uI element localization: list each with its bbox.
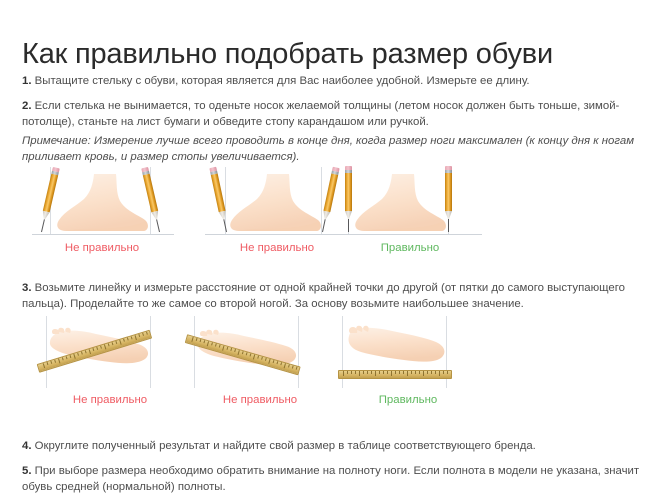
foot-side-illustration bbox=[54, 173, 150, 235]
pencil-body bbox=[345, 173, 352, 211]
pencil-cone bbox=[219, 211, 228, 220]
figure-ruler-wrong-2: Не правильно bbox=[180, 312, 340, 390]
step-5-number: 5. bbox=[22, 465, 32, 477]
foot-side-illustration bbox=[227, 173, 323, 235]
illustration-row-pencil: Не правильно bbox=[0, 163, 670, 261]
step-1-paragraph: 1. Вытащите стельку с обуви, которая явл… bbox=[22, 74, 656, 90]
pencil-lead bbox=[322, 219, 326, 232]
foot-top-illustration bbox=[342, 324, 448, 364]
step-3-paragraph: 3. Возьмите линейку и измерьте расстояни… bbox=[22, 281, 656, 312]
foot-side-illustration bbox=[352, 173, 448, 235]
pencil-lead bbox=[448, 219, 450, 232]
ruler-icon bbox=[338, 370, 452, 379]
page-title: Как правильно подобрать размер обуви bbox=[22, 37, 553, 71]
step-3-number: 3. bbox=[22, 282, 32, 294]
figure-pencil-wrong-1: Не правильно bbox=[22, 163, 182, 238]
ruler-stick bbox=[338, 370, 452, 379]
step-2-paragraph: 2. Если стелька не вынимается, то оденьт… bbox=[22, 99, 656, 130]
pencil-lead bbox=[156, 219, 160, 232]
figure-caption: Не правильно bbox=[180, 394, 340, 406]
pencil-icon-right bbox=[445, 166, 452, 232]
pencil-lead bbox=[223, 219, 227, 232]
pencil-lead bbox=[348, 219, 350, 232]
step-1-number: 1. bbox=[22, 75, 32, 87]
step-1-text: Вытащите стельку с обуви, которая являет… bbox=[32, 75, 530, 87]
step-4-paragraph: 4. Округлите полученный результат и найд… bbox=[22, 439, 656, 455]
step-3-text: Возьмите линейку и измерьте расстояние о… bbox=[22, 282, 625, 310]
pencil-body bbox=[211, 174, 226, 213]
figure-caption: Правильно bbox=[328, 394, 488, 406]
pencil-cone bbox=[151, 211, 160, 220]
step-2-text: Если стелька не вынимается, то оденьте н… bbox=[22, 100, 619, 128]
step-5-paragraph: 5. При выборе размера необходимо обратит… bbox=[22, 464, 656, 495]
pencil-cone bbox=[445, 211, 452, 219]
figure-ruler-wrong-1: Не правильно bbox=[30, 312, 190, 390]
pencil-cone bbox=[345, 211, 352, 219]
figure-caption: Правильно bbox=[330, 242, 490, 254]
figure-caption: Не правильно bbox=[22, 242, 182, 254]
article-page: Как правильно подобрать размер обуви 1. … bbox=[0, 0, 670, 503]
figure-pencil-right: Правильно bbox=[330, 163, 490, 238]
figure-ruler-right: Правильно bbox=[328, 312, 488, 390]
step-5-text: При выборе размера необходимо обратить в… bbox=[22, 465, 639, 493]
step-4-number: 4. bbox=[22, 440, 32, 452]
illustration-row-ruler: Не правильно bbox=[0, 312, 670, 417]
step-2-number: 2. bbox=[22, 100, 32, 112]
figure-caption: Не правильно bbox=[30, 394, 190, 406]
pencil-lead bbox=[41, 219, 45, 232]
pencil-cone bbox=[322, 211, 331, 220]
note-paragraph: Примечание: Измерение лучше всего провод… bbox=[22, 134, 656, 165]
pencil-cone bbox=[41, 211, 50, 220]
pencil-body bbox=[445, 173, 452, 211]
pencil-icon-left bbox=[345, 166, 352, 232]
step-4-text: Округлите полученный результат и найдите… bbox=[32, 440, 536, 452]
